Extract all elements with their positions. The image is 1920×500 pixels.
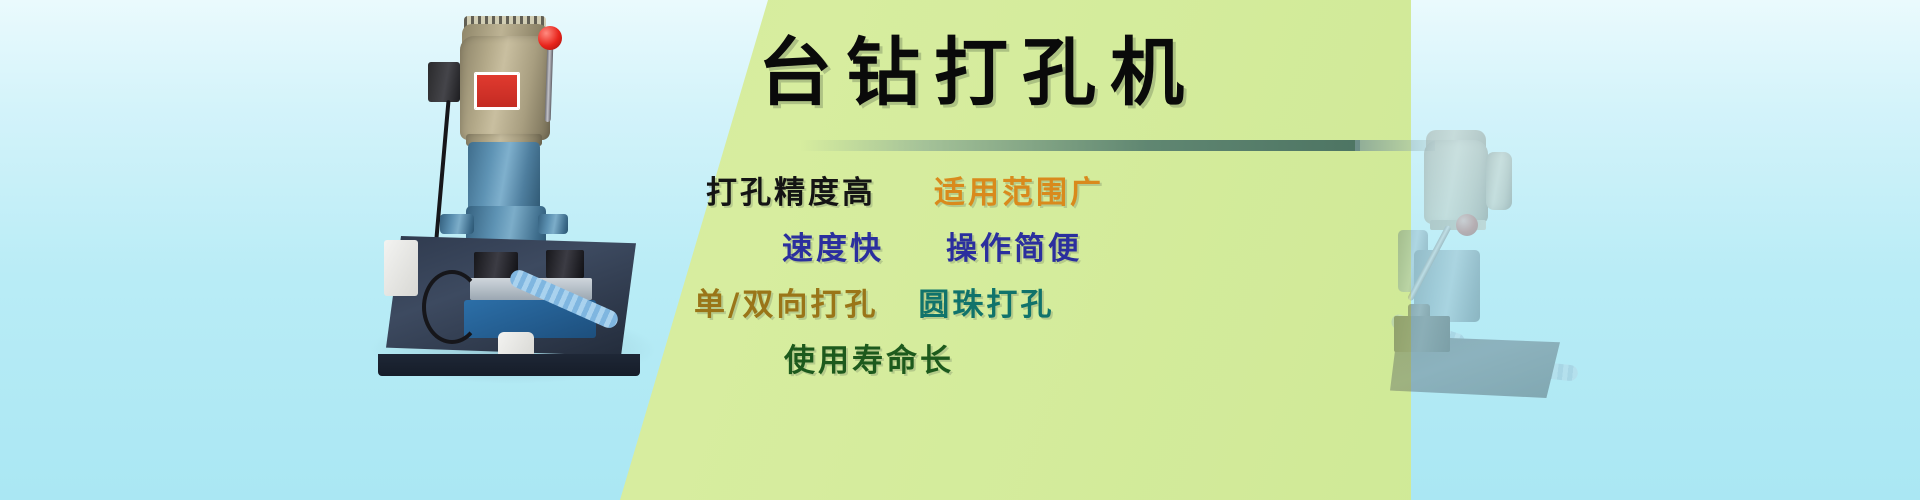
feature-item-2: 速度快 <box>782 234 884 265</box>
bench-drill-machine-secondary <box>1390 108 1590 408</box>
feature-item-1: 适用范围广 <box>934 178 1104 209</box>
title-underline-tail <box>1355 140 1435 151</box>
feature-item-6: 使用寿命长 <box>784 346 954 377</box>
feature-list: 打孔精度高 适用范围广 速度快 操作简便 单/双向打孔 圆珠打孔 使用寿命长 <box>690 178 1410 402</box>
feature-item-3: 操作简便 <box>946 234 1082 265</box>
banner-title: 台钻打孔机 <box>758 36 1198 110</box>
feature-row-1: 打孔精度高 适用范围广 <box>690 178 1410 234</box>
feature-row-3: 单/双向打孔 圆珠打孔 <box>690 290 1410 346</box>
feature-row-4: 使用寿命长 <box>690 346 1410 402</box>
feature-item-4: 单/双向打孔 <box>694 290 878 321</box>
feature-item-5: 圆珠打孔 <box>918 290 1054 321</box>
feature-item-0: 打孔精度高 <box>706 178 876 209</box>
title-underline <box>800 140 1360 151</box>
bench-drill-machine-primary <box>378 14 648 370</box>
product-banner: 台钻打孔机 打孔精度高 适用范围广 速度快 操作简便 单/双向打孔 圆珠打孔 使… <box>0 0 1920 500</box>
feature-row-2: 速度快 操作简便 <box>690 234 1410 290</box>
